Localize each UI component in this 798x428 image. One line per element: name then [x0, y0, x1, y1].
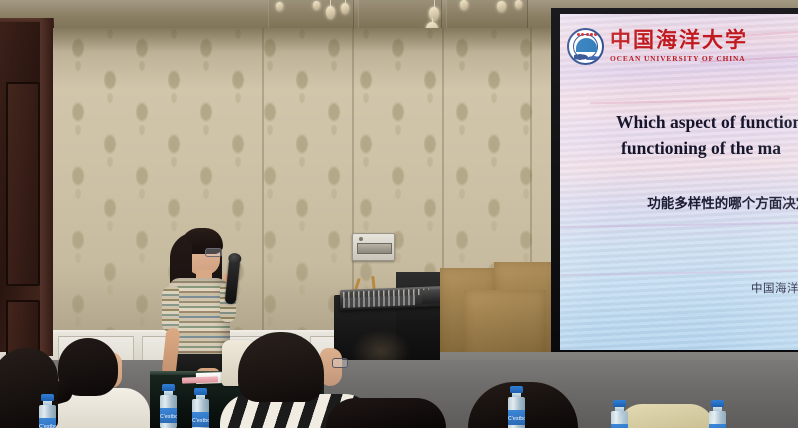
pink-paper [182, 376, 218, 383]
water-bottle: C'estbon [160, 384, 177, 428]
mixer-fader-row [343, 295, 415, 308]
audience-head-far-right [618, 404, 714, 428]
screen-glare [560, 14, 798, 350]
water-bottle: C'estbon [709, 400, 726, 428]
presenter-left-sleeve [162, 286, 179, 332]
water-bottle: C'estbon [611, 400, 628, 428]
bottle-label-text: C'estbon [192, 418, 209, 424]
bottle-body: C'estbon [160, 395, 177, 428]
audience-head-foreground-center [326, 398, 446, 428]
bottle-label-text: C'estbon [508, 416, 525, 422]
panel-indicator-icon [359, 237, 363, 241]
bottle-label-text: C'estbon [160, 414, 177, 420]
bottle-cap [162, 384, 175, 391]
led-presentation-screen[interactable]: 中国海洋大学 OCEAN UNIVERSITY OF CHINA Which a… [560, 14, 798, 350]
door-frame [40, 18, 53, 356]
wall-seam [262, 28, 264, 358]
wall-electrical-panel[interactable] [352, 233, 395, 261]
water-bottle: C'estbon [508, 386, 525, 428]
presentation-photo-scene: 中国海洋大学 OCEAN UNIVERSITY OF CHINA Which a… [0, 0, 798, 428]
presenter-glasses-icon [205, 248, 222, 257]
water-bottle: C'estbon [39, 394, 56, 428]
audio-mixing-console[interactable] [340, 286, 446, 310]
water-bottle: C'estbon [192, 388, 209, 428]
wall-upper-band [0, 28, 560, 52]
bottle-label-text: C'estbon [39, 424, 56, 428]
door-panel-upper [6, 82, 40, 286]
audience-glasses-icon [332, 358, 348, 368]
panel-breaker-row [357, 243, 392, 254]
